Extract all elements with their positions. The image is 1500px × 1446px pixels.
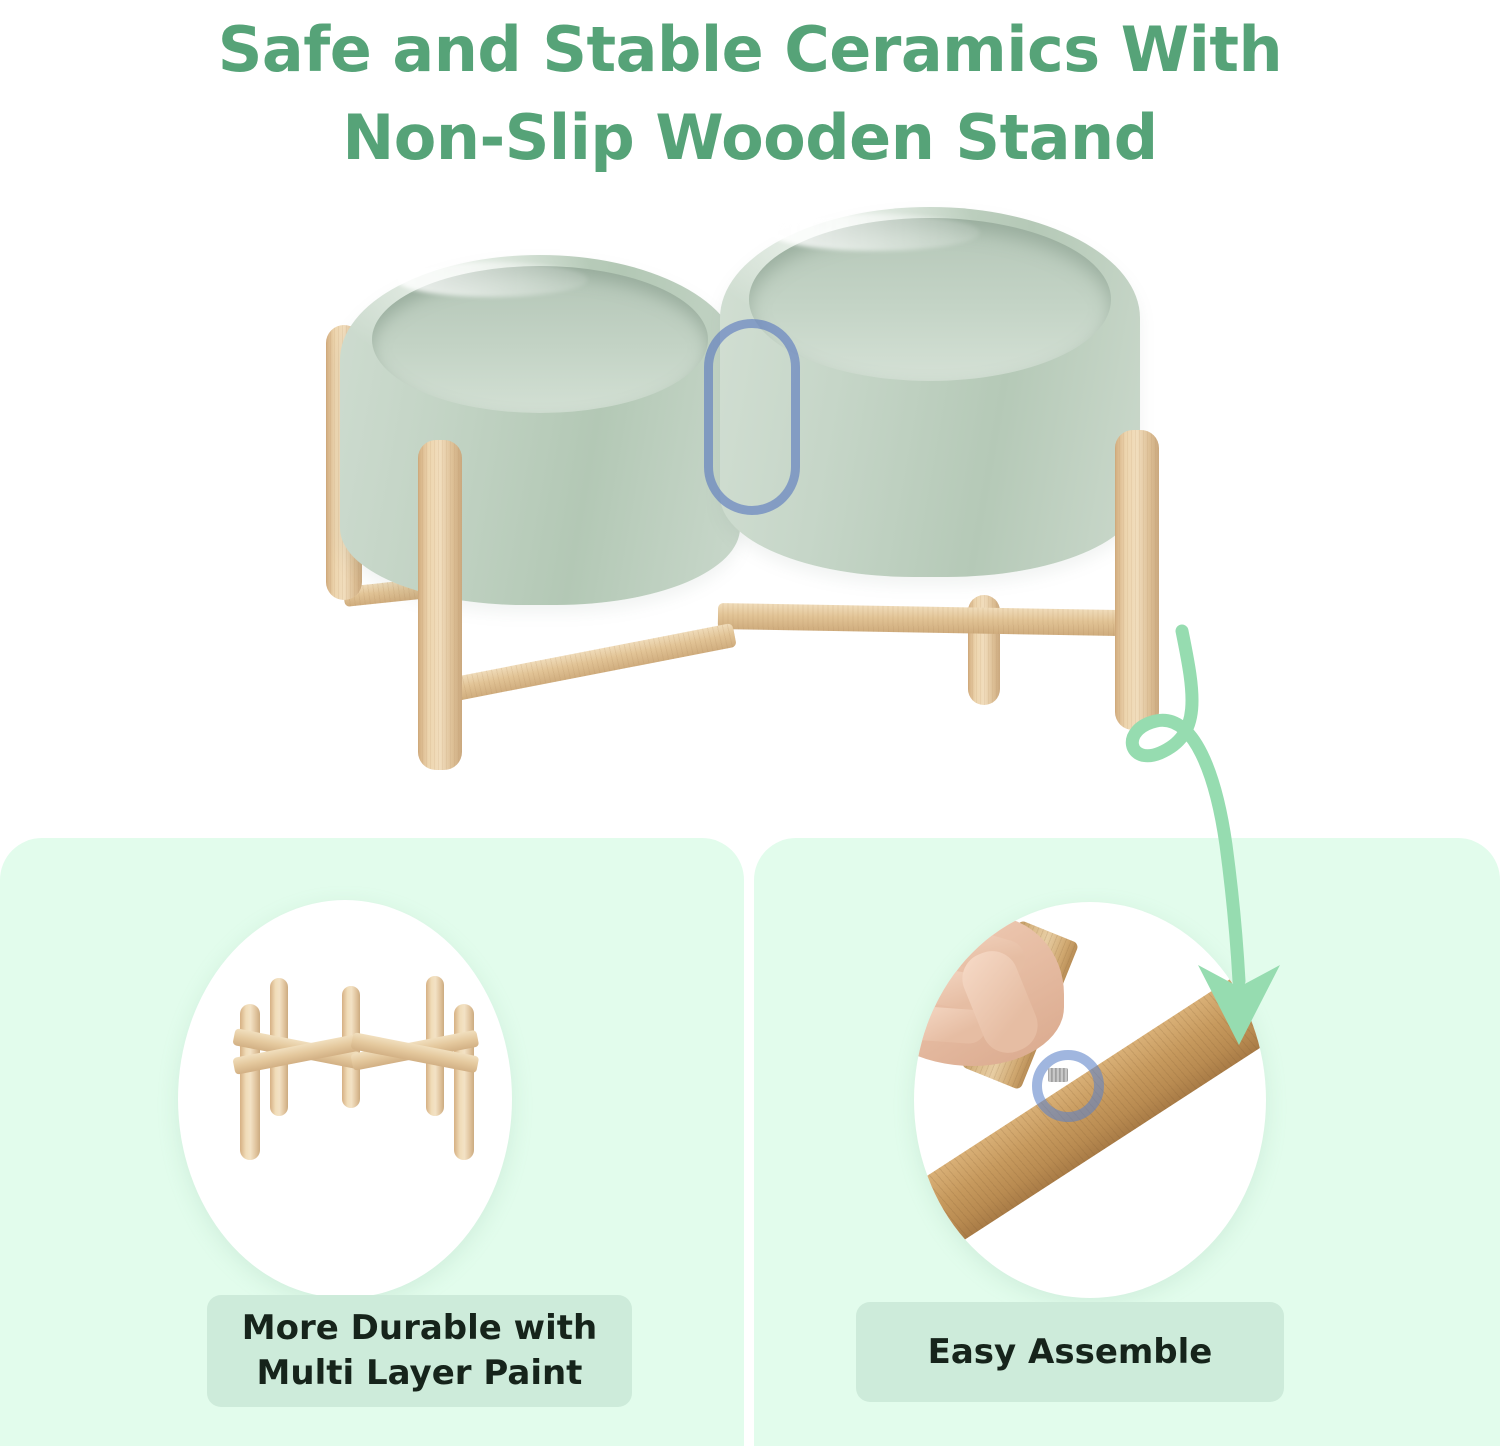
stand-crossbar-front bbox=[438, 623, 737, 704]
bowl-rim-highlight-left bbox=[396, 262, 588, 297]
label-more-durable-line-2: Multi Layer Paint bbox=[257, 1351, 583, 1396]
curly-arrow-icon bbox=[1090, 625, 1350, 1075]
stand-crossbar-right bbox=[718, 603, 1138, 636]
label-easy-assemble: Easy Assemble bbox=[856, 1302, 1284, 1402]
label-more-durable: More Durable with Multi Layer Paint bbox=[207, 1295, 632, 1407]
ceramic-bowl-left bbox=[340, 255, 740, 605]
frame-dowel-front-left bbox=[240, 1004, 260, 1160]
product-infographic: Safe and Stable Ceramics With Non-Slip W… bbox=[0, 0, 1500, 1446]
label-easy-assemble-line-1: Easy Assemble bbox=[928, 1330, 1213, 1375]
feature-card-more-durable[interactable]: More Durable with Multi Layer Paint bbox=[0, 838, 744, 1446]
hero-product-image bbox=[300, 185, 1220, 835]
blue-oval-highlight-icon bbox=[704, 319, 800, 515]
stand-leg-front-left bbox=[418, 440, 462, 770]
label-more-durable-line-1: More Durable with bbox=[242, 1306, 597, 1351]
page-title: Safe and Stable Ceramics With Non-Slip W… bbox=[0, 6, 1500, 182]
screw-icon bbox=[1048, 1068, 1068, 1082]
frame-dowel-front-right bbox=[454, 1004, 474, 1160]
page-title-line-1: Safe and Stable Ceramics With bbox=[0, 6, 1500, 94]
stand-frame-photo bbox=[178, 900, 512, 1298]
wooden-stand-frame-illustration bbox=[178, 900, 512, 1298]
page-title-line-2: Non-Slip Wooden Stand bbox=[0, 94, 1500, 182]
